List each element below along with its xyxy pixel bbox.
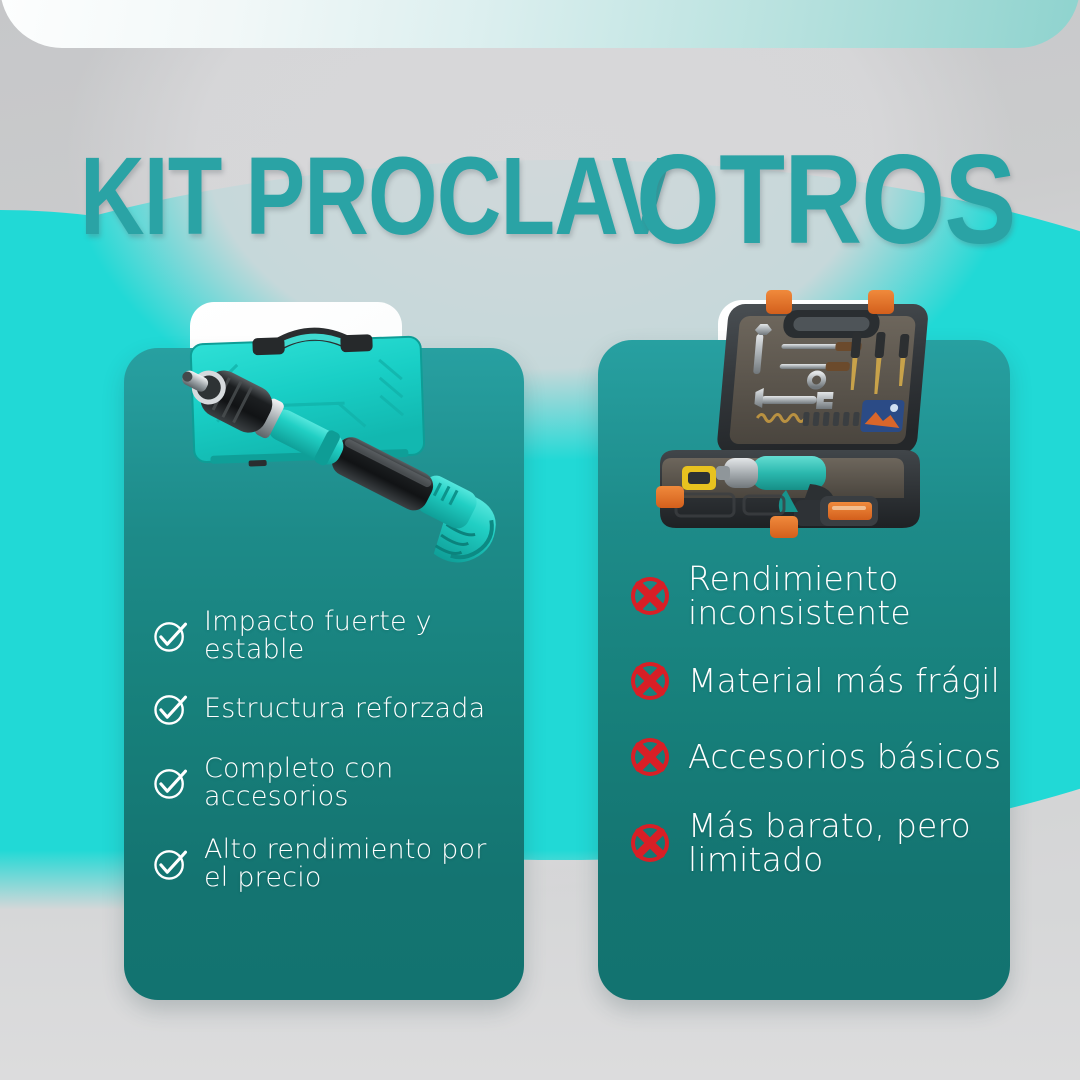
check-circle-icon <box>150 689 190 729</box>
cross-circle-icon <box>626 572 674 620</box>
top-gradient-panel <box>0 0 1080 48</box>
feature-label: Accesorios básicos <box>688 740 1001 774</box>
feature-label: Rendimiento inconsistente <box>688 562 1006 629</box>
check-circle-icon <box>150 763 190 803</box>
feature-label: Material más frágil <box>688 664 1000 698</box>
list-item: Impacto fuerte y estable <box>150 608 510 663</box>
check-circle-icon <box>150 844 190 884</box>
check-circle-icon <box>150 616 190 656</box>
feature-label: Estructura reforzada <box>204 695 485 723</box>
list-item: Más barato, pero limitado <box>626 809 1006 876</box>
feature-list-otros: Rendimiento inconsistente Material más f… <box>626 562 1006 905</box>
list-item: Estructura reforzada <box>150 689 510 729</box>
list-item: Completo con accesorios <box>150 755 510 810</box>
list-item: Rendimiento inconsistente <box>626 562 1006 629</box>
feature-label: Más barato, pero limitado <box>688 809 1006 876</box>
cross-circle-icon <box>626 733 674 781</box>
headings-row: KIT PROCLAV OTROS <box>0 136 1080 254</box>
comparison-poster: KIT PROCLAV OTROS <box>0 0 1080 1080</box>
list-item: Accesorios básicos <box>626 733 1006 781</box>
cross-circle-icon <box>626 657 674 705</box>
feature-label: Impacto fuerte y estable <box>204 608 510 663</box>
heading-kit-proclav: KIT PROCLAV <box>80 142 670 252</box>
list-item: Alto rendimiento por el precio <box>150 836 510 891</box>
product-image-tool-case <box>620 272 1010 572</box>
feature-list-kit-proclav: Impacto fuerte y estable Estructura refo… <box>150 608 510 917</box>
product-image-nail-gun <box>150 296 550 596</box>
feature-label: Completo con accesorios <box>204 755 510 810</box>
heading-otros: OTROS <box>636 136 1016 263</box>
cross-circle-icon <box>626 819 674 867</box>
feature-label: Alto rendimiento por el precio <box>204 836 510 891</box>
list-item: Material más frágil <box>626 657 1006 705</box>
